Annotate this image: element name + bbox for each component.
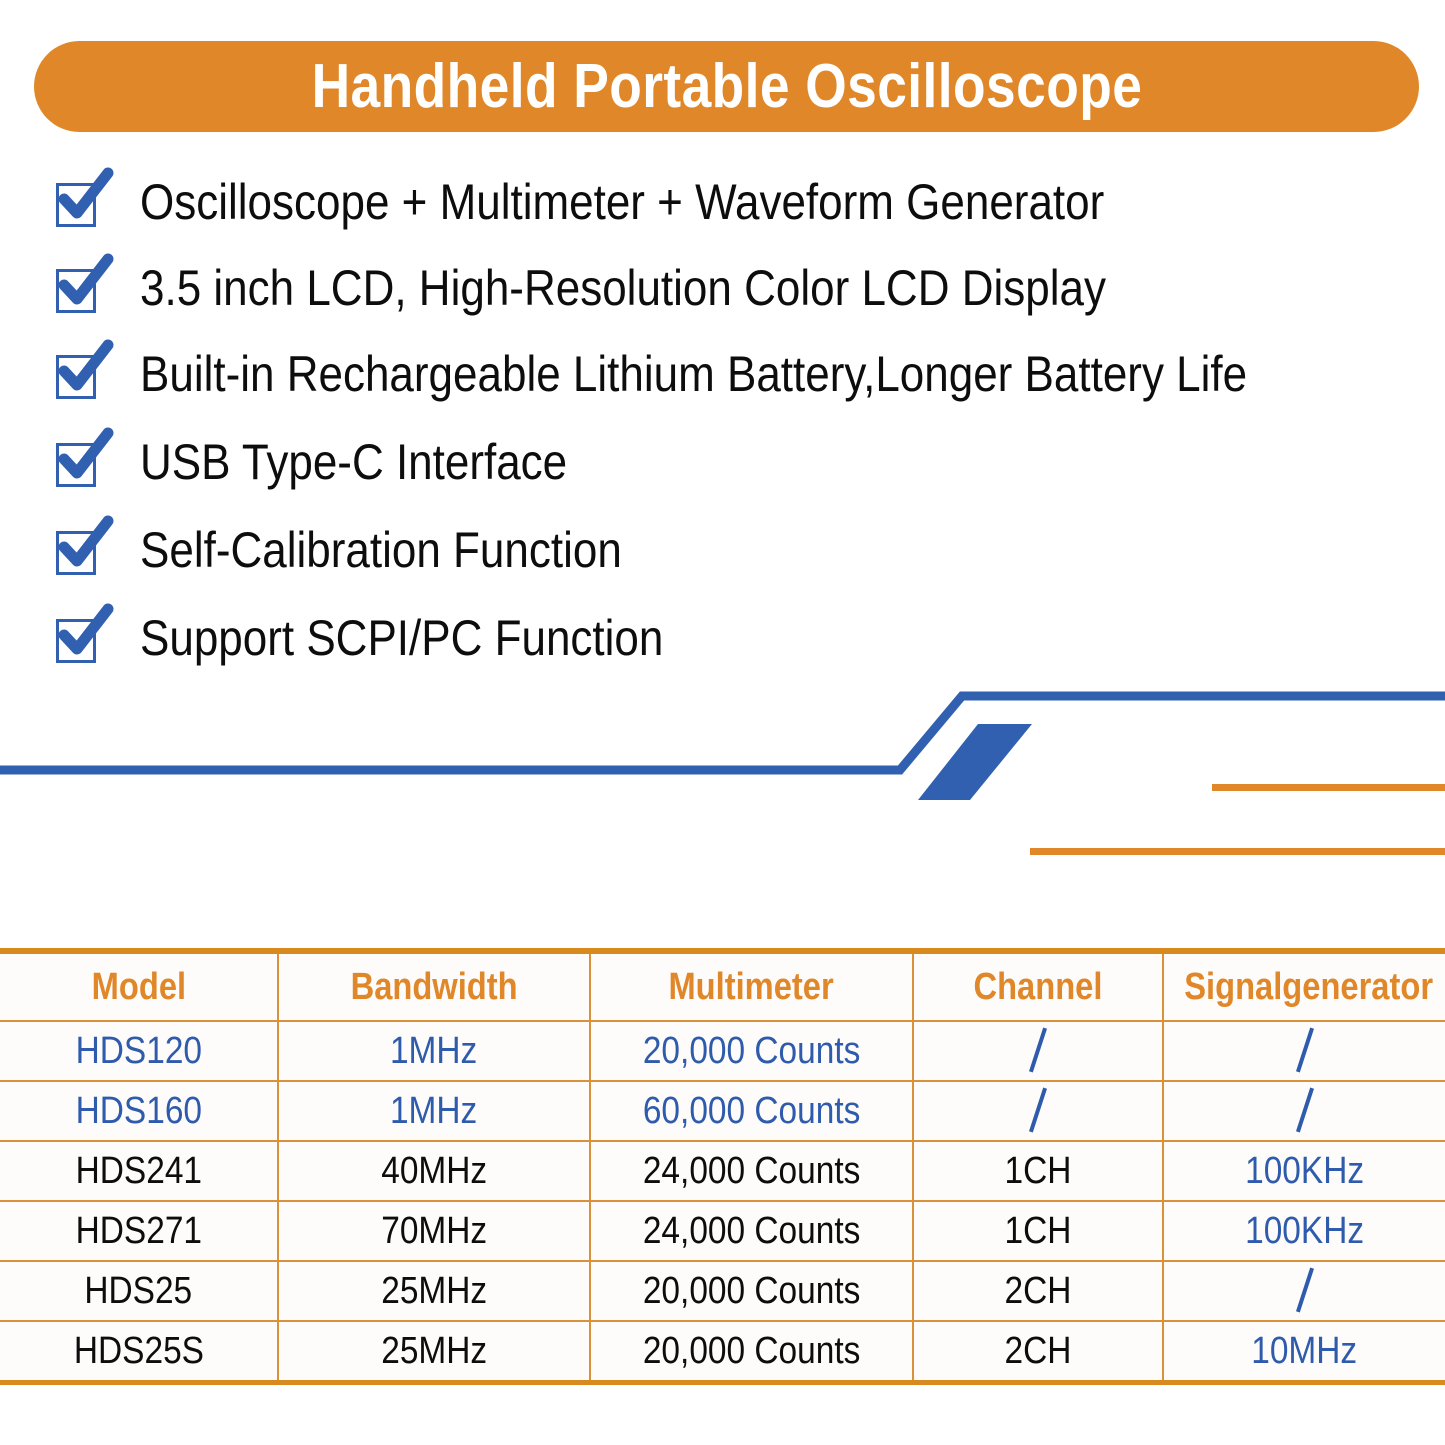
cell-multimeter: 24,000 Counts [590,1201,913,1261]
cell-signalgenerator [1163,1261,1445,1321]
cell-multimeter: 20,000 Counts [590,1261,913,1321]
cell-channel [913,1081,1163,1141]
cell-bandwidth: 40MHz [278,1141,590,1201]
title-banner: Handheld Portable Oscilloscope [34,41,1419,132]
slash-icon [1292,1087,1318,1131]
table-header-row: Model Bandwidth Multimeter Channel Signa… [0,951,1445,1021]
list-item: Built-in Rechargeable Lithium Battery,Lo… [56,330,1398,418]
cell-channel: 1CH [913,1201,1163,1261]
cell-bandwidth: 25MHz [278,1261,590,1321]
checkmark-icon [56,527,102,573]
cell-signalgenerator: 100KHz [1163,1141,1445,1201]
column-header-multimeter: Multimeter [590,951,913,1021]
comparison-table: Model Bandwidth Multimeter Channel Signa… [0,948,1445,1385]
cell-model: HDS160 [0,1081,278,1141]
table-row: HDS241 40MHz 24,000 Counts 1CH 100KHz [0,1141,1445,1201]
spec-table: Model Bandwidth Multimeter Channel Signa… [0,948,1445,1385]
decorative-graphic [0,660,1445,890]
cell-multimeter: 24,000 Counts [590,1141,913,1201]
cell-multimeter: 20,000 Counts [590,1321,913,1383]
list-item: USB Type-C Interface [56,418,625,506]
cell-signalgenerator [1163,1021,1445,1081]
list-item-label: Self-Calibration Function [140,524,622,576]
cell-model: HDS241 [0,1141,278,1201]
checkmark-icon [56,265,102,311]
list-item: Support SCPI/PC Function [56,594,735,682]
cell-multimeter: 60,000 Counts [590,1081,913,1141]
list-item: Self-Calibration Function [56,506,688,594]
checkmark-icon [56,351,102,397]
slash-icon [1025,1087,1051,1131]
table-row: HDS160 1MHz 60,000 Counts [0,1081,1445,1141]
table-row: HDS271 70MHz 24,000 Counts 1CH 100KHz [0,1201,1445,1261]
cell-channel: 1CH [913,1141,1163,1201]
checkmark-icon [56,439,102,485]
orange-bar-lower [1030,848,1445,855]
cell-signalgenerator: 10MHz [1163,1321,1445,1383]
blue-parallelogram [918,724,1032,800]
feature-list: Oscilloscope + Multimeter + Waveform Gen… [0,158,1445,688]
list-item-label: Support SCPI/PC Function [140,612,663,664]
column-header-channel: Channel [913,951,1163,1021]
checkmark-icon [56,179,102,225]
cell-model: HDS25S [0,1321,278,1383]
cell-bandwidth: 70MHz [278,1201,590,1261]
page-title-text: Handheld Portable Oscilloscope [311,56,1142,118]
list-item-label: Built-in Rechargeable Lithium Battery,Lo… [140,348,1247,400]
cell-multimeter: 20,000 Counts [590,1021,913,1081]
orange-bar-upper [1212,784,1445,791]
page-title: Handheld Portable Oscilloscope [34,56,1419,118]
cell-bandwidth: 1MHz [278,1021,590,1081]
slash-icon [1292,1267,1318,1311]
cell-bandwidth: 25MHz [278,1321,590,1383]
cell-signalgenerator [1163,1081,1445,1141]
list-item-label: 3.5 inch LCD, High-Resolution Color LCD … [140,262,1106,314]
cell-model: HDS120 [0,1021,278,1081]
checkmark-icon [56,615,102,661]
slash-icon [1025,1027,1051,1071]
table-row: HDS120 1MHz 20,000 Counts [0,1021,1445,1081]
slash-icon [1292,1027,1318,1071]
cell-signalgenerator: 100KHz [1163,1201,1445,1261]
table-row: HDS25 25MHz 20,000 Counts 2CH [0,1261,1445,1321]
cell-channel: 2CH [913,1321,1163,1383]
cell-model: HDS271 [0,1201,278,1261]
cell-channel: 2CH [913,1261,1163,1321]
list-item: 3.5 inch LCD, High-Resolution Color LCD … [56,244,1238,332]
blue-stepped-line [0,696,1445,770]
table-row: HDS25S 25MHz 20,000 Counts 2CH 10MHz [0,1321,1445,1383]
list-item: Oscilloscope + Multimeter + Waveform Gen… [56,158,1236,246]
list-item-label: Oscilloscope + Multimeter + Waveform Gen… [140,176,1104,228]
column-header-model: Model [0,951,278,1021]
cell-model: HDS25 [0,1261,278,1321]
column-header-signalgenerator: Signalgenerator [1163,951,1445,1021]
list-item-label: USB Type-C Interface [140,436,567,488]
cell-channel [913,1021,1163,1081]
column-header-bandwidth: Bandwidth [278,951,590,1021]
cell-bandwidth: 1MHz [278,1081,590,1141]
